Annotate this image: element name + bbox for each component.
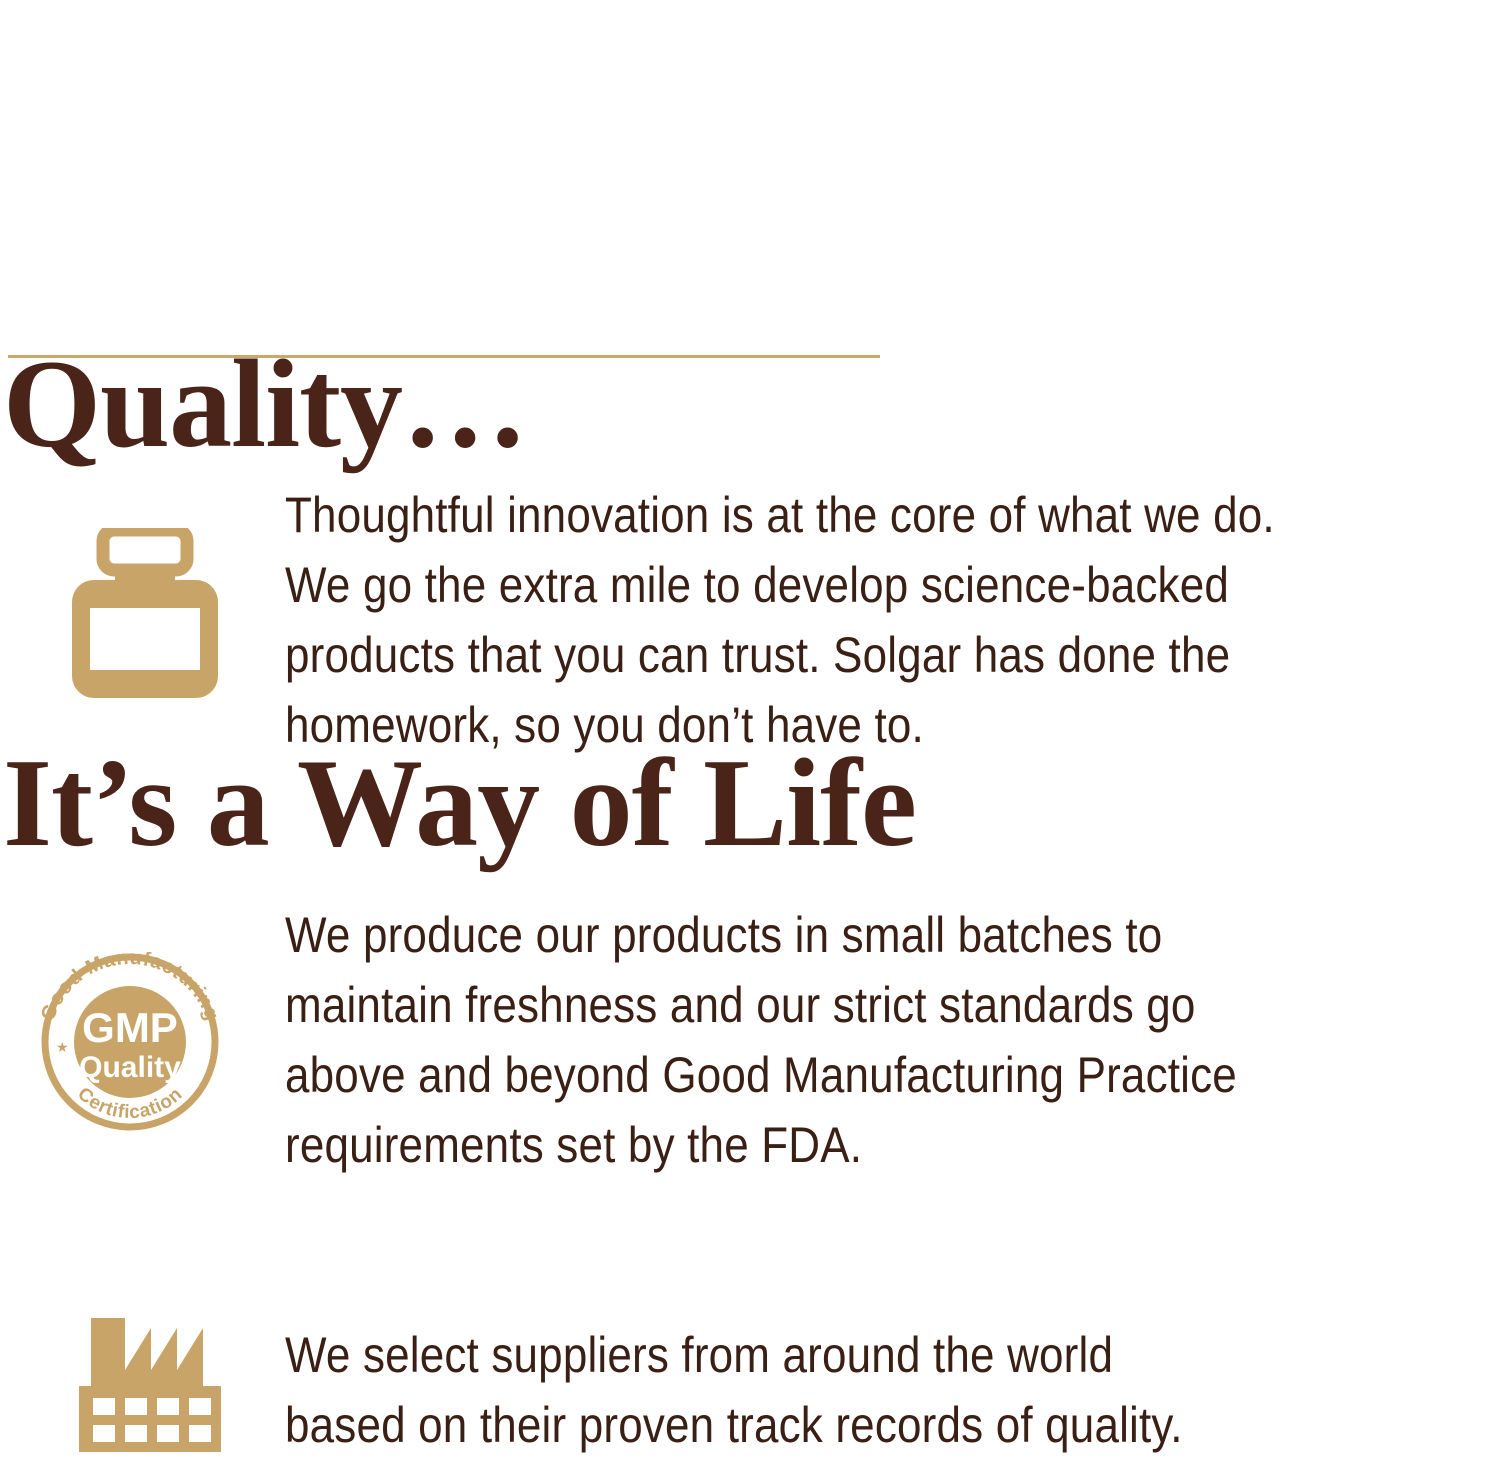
seal-star-icon: ★ [56,1039,69,1055]
gmp-quality-seal-icon: Good Manufacturing Certification ★ GMP Q… [30,952,230,1132]
seal-center-gmp: GMP [82,1004,178,1051]
quality-panel: Quality… It’s a Way of Life Thoughtful i… [0,0,1500,1465]
bottle-icon-container [20,528,270,700]
gmp-seal-container: Good Manufacturing Certification ★ GMP Q… [5,952,255,1132]
gold-divider-rule [8,355,880,358]
factory-icon-container [25,1310,275,1460]
factory-icon [75,1310,225,1460]
supplement-bottle-icon [70,528,220,700]
feature-text-gmp: We produce our products in small batches… [285,900,1350,1180]
page-title-line-1: Quality… [3,338,1203,471]
feature-text-suppliers: We select suppliers from around the worl… [285,1320,1350,1460]
seal-center-quality: Quality [79,1051,181,1084]
feature-text-innovation: Thoughtful innovation is at the core of … [285,480,1350,760]
